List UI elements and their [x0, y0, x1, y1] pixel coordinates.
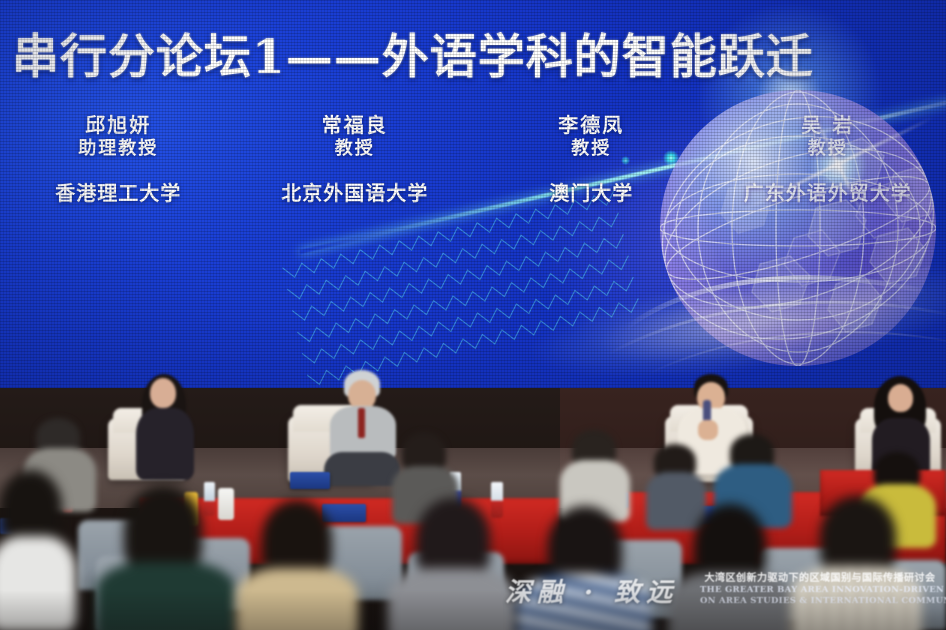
speaker-org: 香港理工大学: [0, 181, 237, 205]
audience-member-front-3: [236, 500, 358, 630]
panelist-1: [132, 378, 198, 478]
audience-member-front-2: [96, 486, 236, 630]
led-screen: 串行分论坛1——外语学科的智能跃迁 邱旭妍 助理教授 香港理工大学 常福良 教授…: [0, 0, 946, 388]
speaker-name: 吴 岩: [710, 113, 946, 137]
speaker-org: 澳门大学: [473, 181, 710, 205]
summit-logo-block: 大湾区创新力驱动下的区域国别与国际传播研讨会 THE GREATER BAY A…: [700, 573, 940, 607]
audience-hair: [262, 500, 332, 578]
calligraphy-watermark: 深融 · 致远: [505, 572, 678, 609]
panelist-head: [150, 378, 176, 408]
panelist-legs: [324, 452, 400, 486]
audience-member-front-7: [790, 496, 922, 630]
speaker-name: 常福良: [237, 113, 474, 137]
audience-torso: [0, 536, 76, 630]
speaker-name: 李德凤: [473, 113, 710, 137]
panelist-torso: [136, 408, 194, 480]
speaker-list: 邱旭妍 助理教授 香港理工大学 常福良 教授 北京外国语大学 李德凤 教授 澳门…: [0, 113, 946, 205]
audience-hair: [0, 470, 62, 544]
speaker-card-4: 吴 岩 教授 广东外语外贸大学: [710, 113, 946, 205]
microphone-icon: [703, 400, 711, 422]
speaker-name: 邱旭妍: [0, 113, 237, 137]
audience-member-front-1: [0, 470, 76, 630]
panelist-head: [888, 384, 913, 412]
audience-hair: [694, 504, 766, 582]
speaker-rank: 教授: [237, 137, 474, 161]
speaker-card-3: 李德凤 教授 澳门大学: [473, 113, 710, 205]
forum-title: 串行分论坛1——外语学科的智能跃迁: [12, 30, 912, 86]
summit-title-en-line2: ON AREA STUDIES & INTERNATIONAL COMMUNIC…: [700, 596, 940, 607]
speaker-rank: 教授: [473, 137, 710, 161]
audience-member-front-6: [668, 504, 794, 630]
speaker-org: 北京外国语大学: [237, 181, 474, 205]
audience-hair: [820, 496, 896, 576]
summit-title-en-line1: THE GREATER BAY AREA INNOVATION-DRIVEN S…: [700, 585, 940, 596]
speaker-card-1: 邱旭妍 助理教授 香港理工大学: [0, 113, 237, 205]
panelist-lanyard: [358, 408, 365, 438]
audience-hair: [416, 498, 490, 578]
speaker-rank: 助理教授: [0, 137, 237, 161]
summit-title-cn: 大湾区创新力驱动下的区域国别与国际传播研讨会: [700, 573, 940, 585]
audience-torso: [96, 562, 236, 630]
speaker-card-2: 常福良 教授 北京外国语大学: [237, 113, 474, 205]
conference-stage-photo: 串行分论坛1——外语学科的智能跃迁 邱旭妍 助理教授 香港理工大学 常福良 教授…: [0, 0, 946, 630]
audience-member-front-5: [516, 506, 652, 630]
audience-torso: [236, 568, 358, 630]
audience-hair: [124, 486, 202, 572]
audience-torso: [388, 568, 516, 630]
audience-member-front-4: [388, 498, 516, 630]
speaker-rank: 教授: [710, 137, 946, 161]
speaker-org: 广东外语外贸大学: [710, 181, 946, 205]
name-placard-1: [290, 472, 330, 489]
